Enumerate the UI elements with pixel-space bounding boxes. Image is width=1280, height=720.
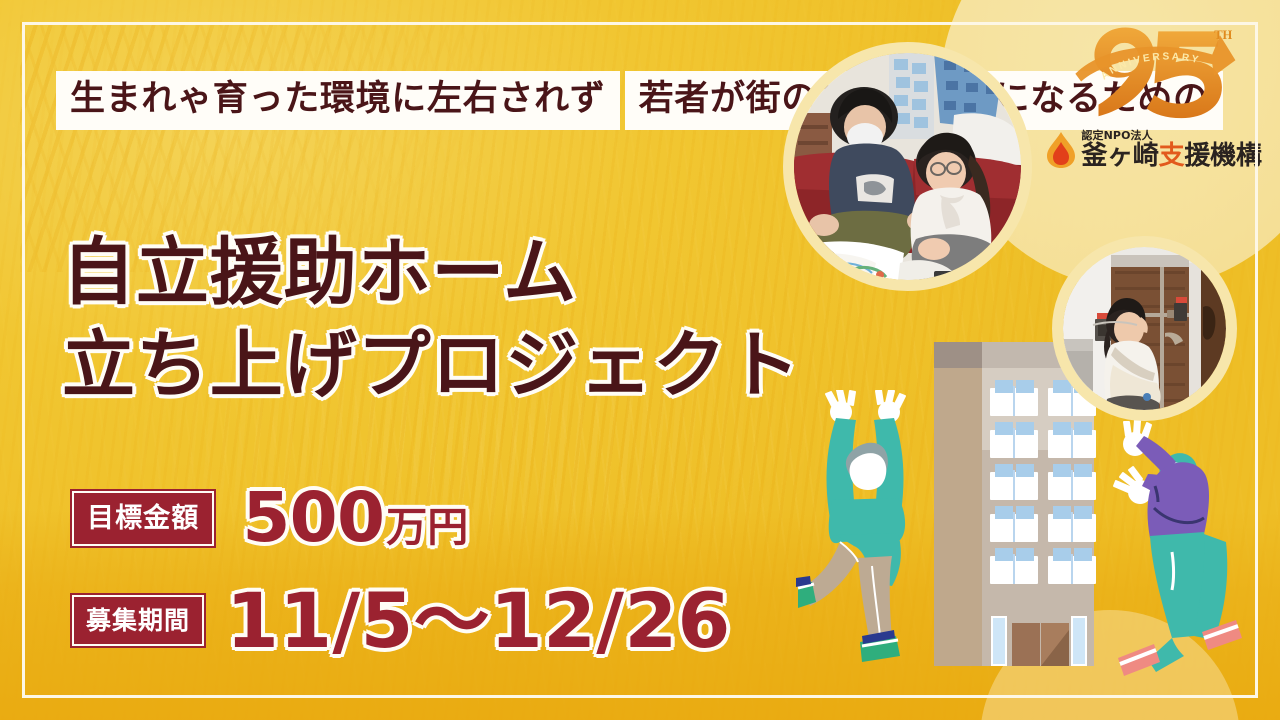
person-waving-illustration xyxy=(1098,400,1258,694)
kicker-line-1: 生まれゃ育った環境に左右されず xyxy=(56,71,620,130)
organization-name-row: 認定NPO法人 釜ヶ崎支援機構 xyxy=(1054,130,1254,169)
organization-text: 認定NPO法人 釜ヶ崎支援機構 xyxy=(1081,130,1261,169)
flame-icon xyxy=(1046,131,1076,169)
goal-amount-number: 500 xyxy=(242,487,384,550)
goal-amount-badge: 目標金額 xyxy=(72,491,214,546)
campaign-poster: 生まれゃ育った環境に左右されず 若者が街のプレイヤーになるための 自立援助ホーム… xyxy=(0,0,1280,720)
photo-main-inner xyxy=(794,53,1021,280)
org-name-part-b: 援機構 xyxy=(1184,141,1261,171)
period-value: 11/5〜12/26 xyxy=(226,586,731,656)
organization-name: 釜ヶ崎支援機構 xyxy=(1081,143,1261,169)
photo-sub-inner xyxy=(1063,247,1226,410)
period-badge: 募集期間 xyxy=(72,595,204,646)
main-title: 自立援助ホーム 立ち上げプロジェクト xyxy=(62,226,801,413)
organization-prefix: 認定NPO法人 xyxy=(1081,130,1261,141)
kicker-headline-group: 生まれゃ育った環境に左右されず 若者が街のプレイヤーになるための xyxy=(56,57,1223,130)
goal-amount-unit: 万円 xyxy=(386,509,468,547)
photo-two-people-on-sofa xyxy=(783,42,1032,291)
main-title-line-1: 自立援助ホーム xyxy=(62,226,801,319)
period-row: 募集期間 11/5〜12/26 xyxy=(72,586,731,656)
anniversary-25th-icon: TH ANNIVERSARY xyxy=(1058,14,1251,122)
goal-amount-value: 500 万円 xyxy=(242,487,468,550)
org-name-part-a: 釜ヶ崎 xyxy=(1081,141,1158,171)
goal-amount-row: 目標金額 500 万円 xyxy=(72,487,468,550)
person-jumping-illustration xyxy=(796,390,936,684)
photo-woman-at-apartment-door xyxy=(1052,236,1237,421)
organization-logo-block: TH ANNIVERSARY 認定NPO法人 釜ヶ崎支援機構 xyxy=(1054,14,1254,169)
main-title-line-2: 立ち上げプロジェクト xyxy=(62,319,801,412)
svg-text:TH: TH xyxy=(1214,28,1232,42)
org-name-highlight: 支 xyxy=(1159,141,1185,171)
